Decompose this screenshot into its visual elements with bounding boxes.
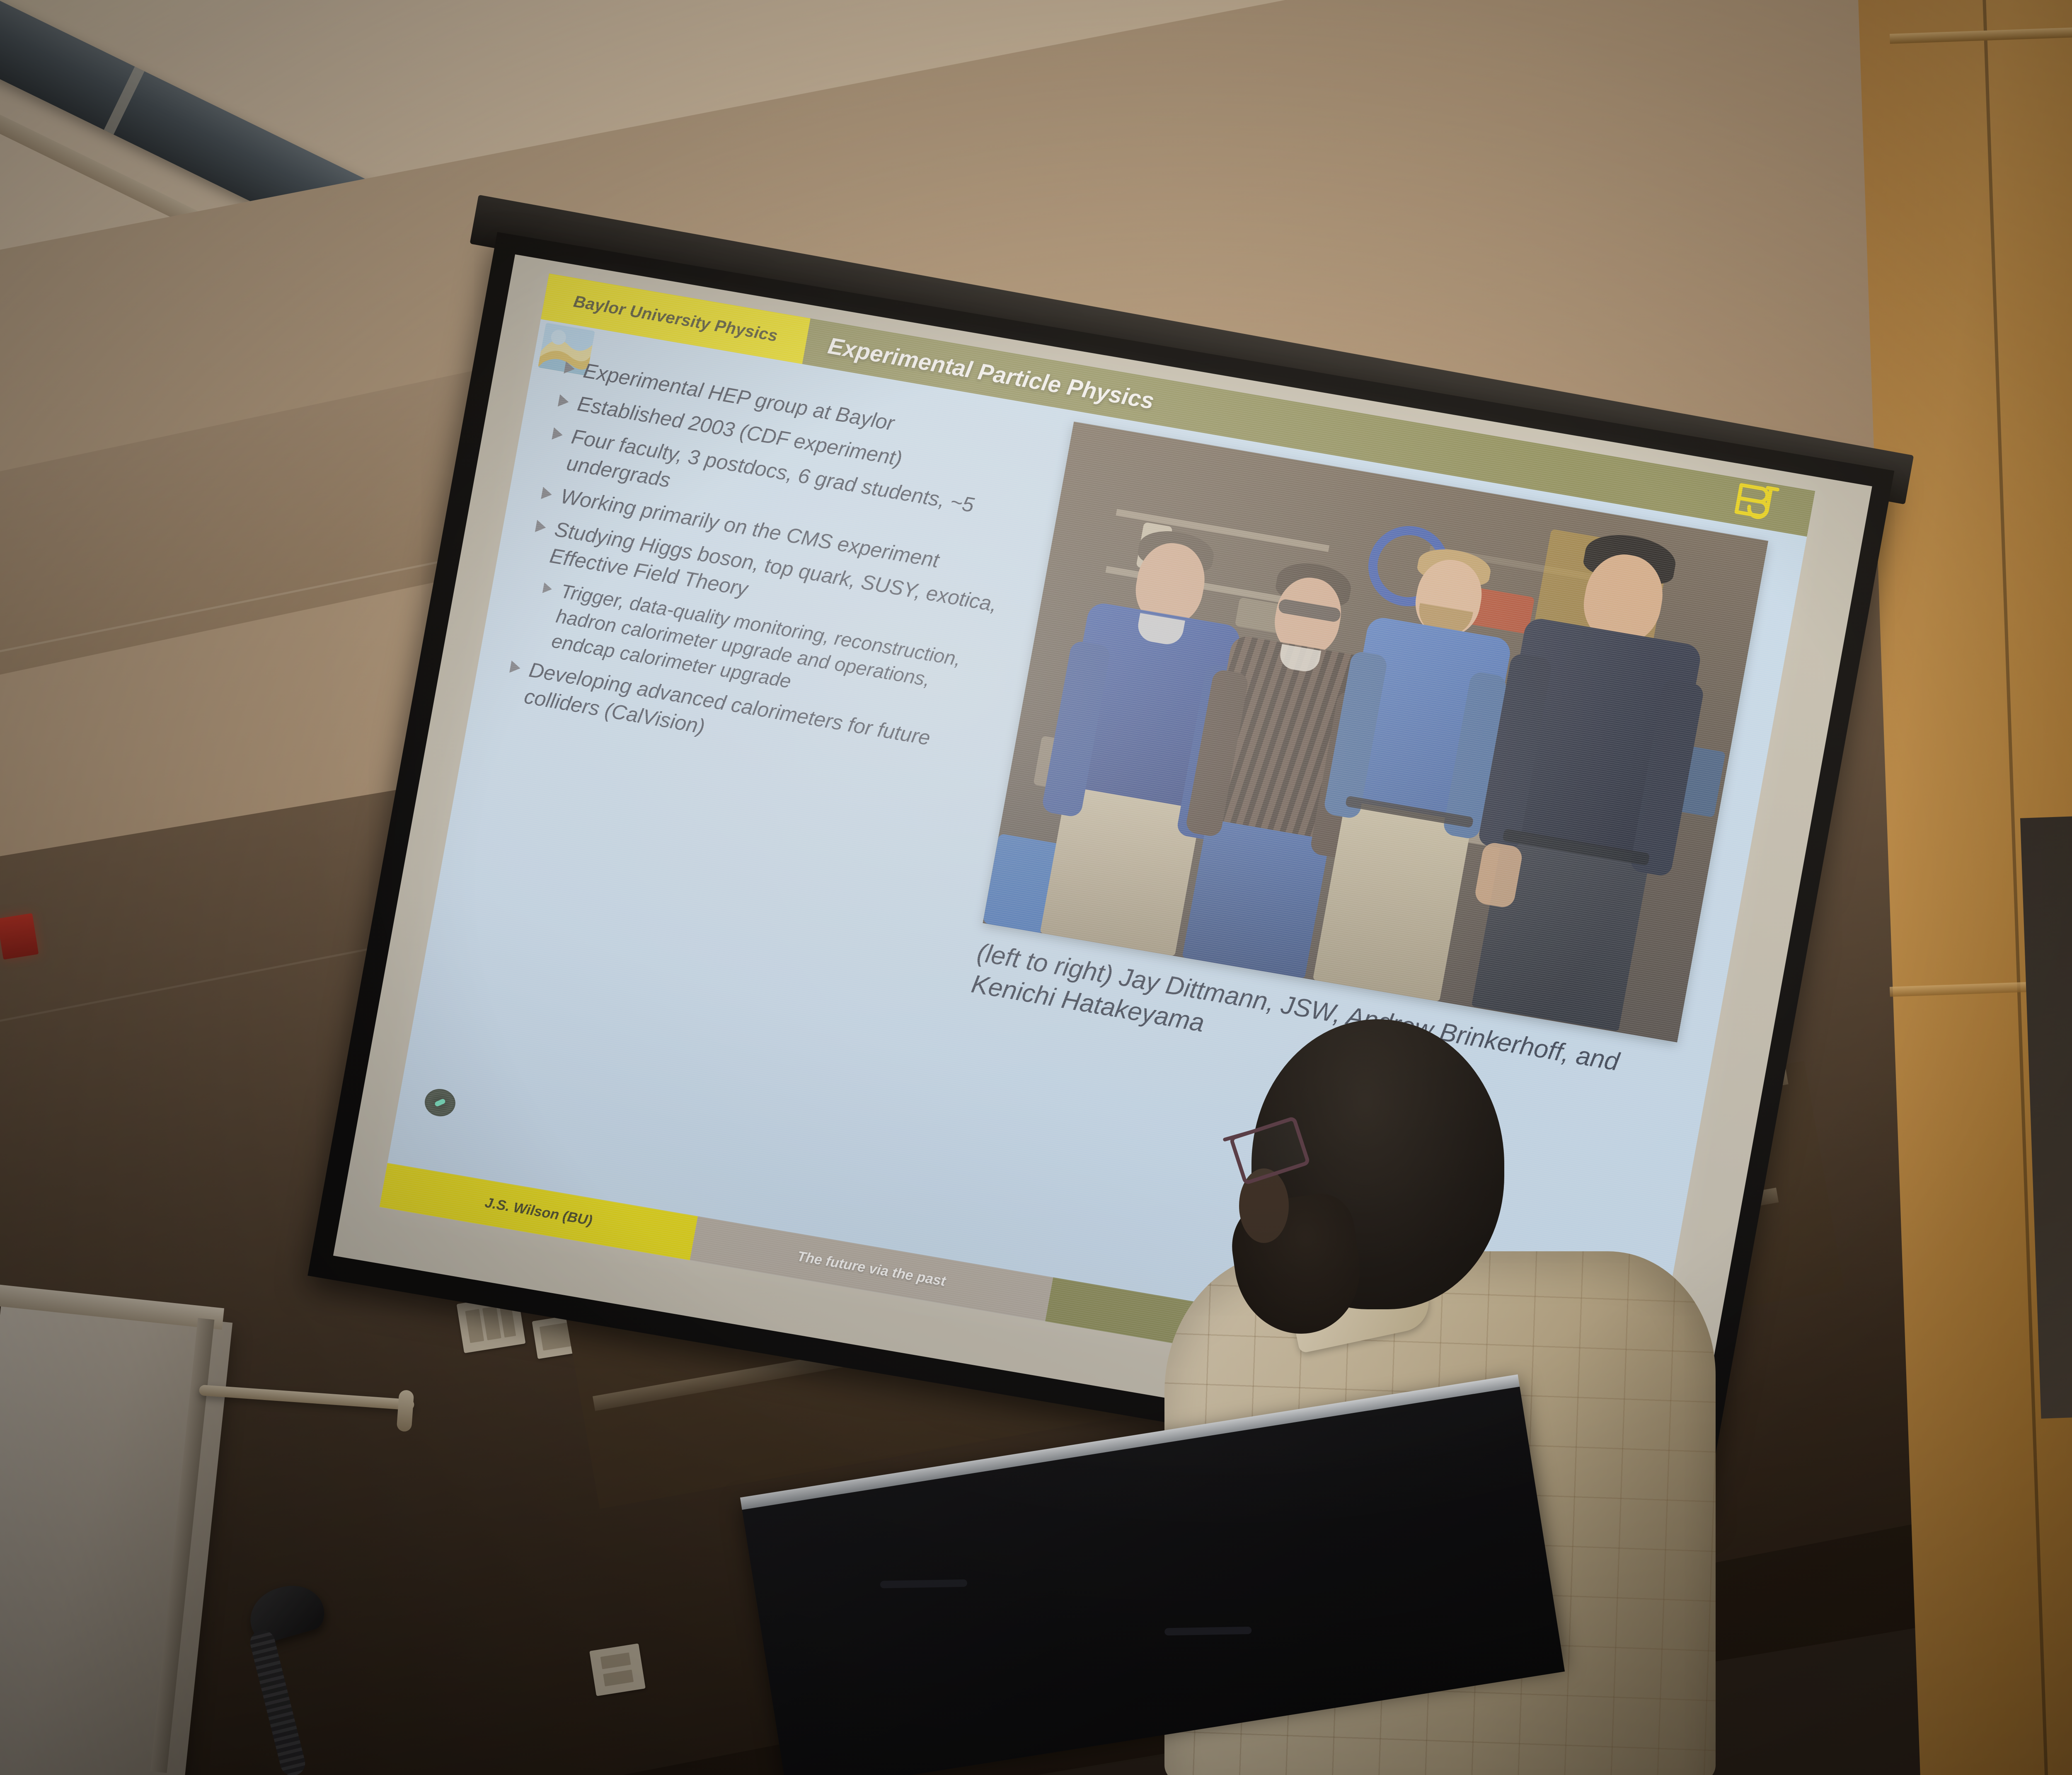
bullet-triangle-icon: [558, 394, 570, 409]
footer-author: J.S. Wilson (BU): [484, 1195, 593, 1229]
slide-bullet-list: Experimental HEP group at Baylor Establi…: [502, 354, 1041, 794]
bullet-triangle-icon: [564, 361, 576, 375]
screenshot-root: Baylor University Physics Experimental P…: [0, 0, 2072, 1775]
bullet-triangle-icon: [509, 660, 521, 675]
bu-logo-icon: [1726, 476, 1789, 532]
slide-corner-logo-icon: [423, 1087, 458, 1119]
bullet-triangle-icon: [541, 487, 553, 501]
group-photo: [983, 422, 1768, 1042]
bullet-triangle-icon: [552, 427, 564, 441]
bullet-triangle-icon: [535, 520, 547, 534]
bullet-triangle-icon: [542, 583, 553, 595]
presenter-glasses-icon: [1235, 1123, 1343, 1173]
